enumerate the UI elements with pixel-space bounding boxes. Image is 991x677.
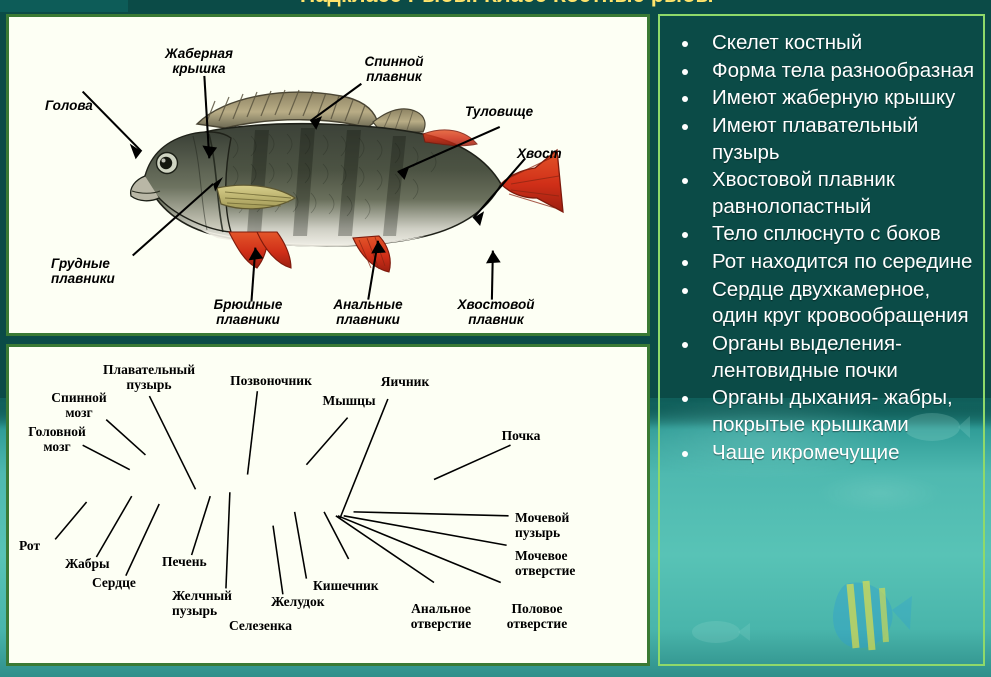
label-head: Голова xyxy=(45,99,93,114)
external-anatomy-panel: Голова Жаберная крышка Спинной плавник Т… xyxy=(6,14,650,336)
label-kidney: Почка xyxy=(502,429,541,444)
label-mouth: Рот xyxy=(19,539,40,554)
list-item: Хвостовой плавник равнолопастный xyxy=(668,167,980,220)
label-swim-bladder: Плавательный пузырь xyxy=(103,363,195,392)
bullet-dot-icon xyxy=(682,124,688,130)
label-gill-cover: Жаберная крышка xyxy=(165,47,233,76)
bullet-dot-icon xyxy=(682,288,688,294)
bullet-dot-icon xyxy=(682,260,688,266)
characteristics-panel: Скелет костный Форма тела разнообразная … xyxy=(658,14,985,666)
label-urinary-opening: Мочевое отверстие xyxy=(515,549,575,578)
list-item: Рот находится по середине xyxy=(668,249,980,276)
list-item-label: Скелет костный xyxy=(712,31,862,54)
list-item-label: Органы выделения- лентовидные почки xyxy=(712,332,902,382)
list-item-label: Хвостовой плавник равнолопастный xyxy=(712,168,895,218)
title-strip-shade xyxy=(0,0,128,12)
list-item-label: Имеют плавательный пузырь xyxy=(712,114,918,164)
bullet-dot-icon xyxy=(682,342,688,348)
list-item: Форма тела разнообразная xyxy=(668,58,980,85)
internal-anatomy-panel: Плавательный пузырь Позвоночник Яичник М… xyxy=(6,344,650,666)
bullet-dot-icon xyxy=(682,69,688,75)
label-pectoral-fins: Грудные плавники xyxy=(51,257,115,286)
label-brain: Головной мозг xyxy=(28,425,86,454)
label-gills: Жабры xyxy=(65,557,110,572)
label-anal-fins: Анальные плавники xyxy=(333,298,402,327)
label-trunk: Туловище xyxy=(465,105,533,120)
list-item-label: Рот находится по середине xyxy=(712,250,972,273)
list-item-label: Форма тела разнообразная xyxy=(712,59,974,82)
label-tail: Хвост xyxy=(517,147,562,162)
list-item: Сердце двухкамерное, один круг кровообра… xyxy=(668,277,980,330)
label-ovary: Яичник xyxy=(381,375,429,390)
label-caudal-fin: Хвостовой плавник xyxy=(458,298,535,327)
internal-leader-lines xyxy=(9,347,647,663)
label-anal-opening: Анальное отверстие xyxy=(411,602,471,631)
bullet-dot-icon xyxy=(682,232,688,238)
characteristics-list: Скелет костный Форма тела разнообразная … xyxy=(668,30,980,467)
list-item-label: Сердце двухкамерное, один круг кровообра… xyxy=(712,278,969,328)
list-item: Чаще икромечущие xyxy=(668,440,980,467)
bullet-dot-icon xyxy=(682,396,688,402)
list-item-label: Имеют жаберную крышку xyxy=(712,86,955,109)
label-muscles: Мышцы xyxy=(323,394,376,409)
bullet-dot-icon xyxy=(682,451,688,457)
label-spinal-cord: Спинной мозг xyxy=(51,391,106,420)
slide-title-strip: Надкласс Рыбы. Класс Костные рыбы xyxy=(0,0,991,12)
list-item-label: Чаще икромечущие xyxy=(712,441,899,464)
list-item: Имеют плавательный пузырь xyxy=(668,113,980,166)
label-genital-opening: Половое отверстие xyxy=(507,602,567,631)
label-dorsal-fin: Спинной плавник xyxy=(364,55,423,84)
label-heart: Сердце xyxy=(92,576,136,591)
internal-anatomy-canvas: Плавательный пузырь Позвоночник Яичник М… xyxy=(9,347,647,663)
label-stomach: Желудок xyxy=(271,595,325,610)
bullet-dot-icon xyxy=(682,96,688,102)
label-urinary-bladder: Мочевой пузырь xyxy=(515,511,569,540)
label-gall-bladder: Желчный пузырь xyxy=(172,589,232,618)
label-intestine: Кишечник xyxy=(313,579,379,594)
label-spine: Позвоночник xyxy=(230,374,312,389)
list-item-label: Органы дыхания- жабры, покрытые крышками xyxy=(712,386,953,436)
list-item: Скелет костный xyxy=(668,30,980,57)
label-liver: Печень xyxy=(162,555,207,570)
external-leader-lines xyxy=(9,17,647,333)
perch-external-illustration xyxy=(105,72,575,287)
label-pelvic-fins: Брюшные плавники xyxy=(214,298,283,327)
label-spleen: Селезенка xyxy=(229,619,292,634)
list-item: Органы выделения- лентовидные почки xyxy=(668,331,980,384)
list-item-label: Тело сплюснуто с боков xyxy=(712,222,941,245)
bullet-dot-icon xyxy=(682,41,688,47)
external-anatomy-canvas: Голова Жаберная крышка Спинной плавник Т… xyxy=(9,17,647,333)
list-item: Имеют жаберную крышку xyxy=(668,85,980,112)
page-title: Надкласс Рыбы. Класс Костные рыбы xyxy=(300,0,714,8)
bullet-dot-icon xyxy=(682,178,688,184)
list-item: Тело сплюснуто с боков xyxy=(668,221,980,248)
list-item: Органы дыхания- жабры, покрытые крышками xyxy=(668,385,980,438)
